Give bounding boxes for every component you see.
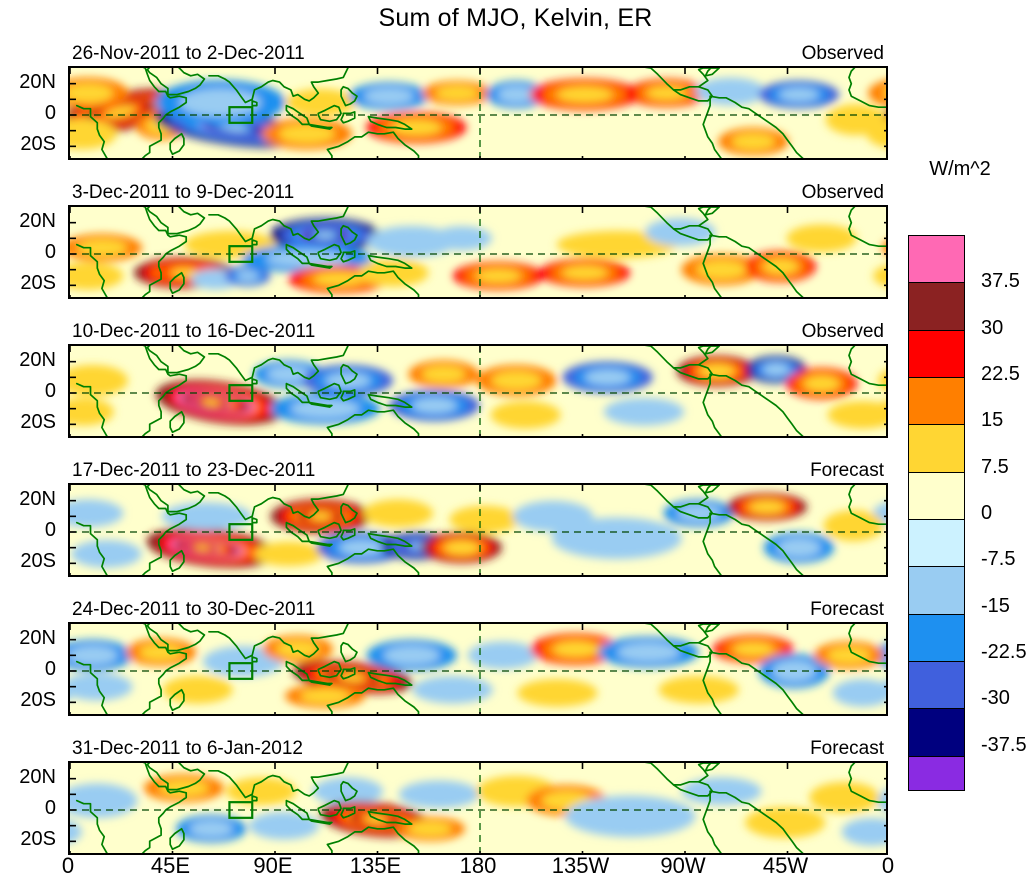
y-tick-20N-panel-3: 20N <box>0 350 56 370</box>
x-tick-90W: 90W <box>643 855 723 877</box>
map-frame-5 <box>68 622 888 716</box>
map-frame-1 <box>68 66 888 160</box>
colorbar-tick--22-5: -22.5 <box>981 642 1027 662</box>
x-tick-180: 180 <box>438 855 518 877</box>
x-tick-0: 0 <box>28 855 108 877</box>
colorbar-band-0 <box>909 236 964 282</box>
colorbar-band-4 <box>909 424 964 471</box>
colorbar-band-2 <box>909 330 964 377</box>
colorbar-tick-22-5: 22.5 <box>981 364 1020 384</box>
y-tick-20S-panel-1: 20S <box>0 134 56 154</box>
figure-root: Sum of MJO, Kelvin, ER 045E90E135E180135… <box>0 0 1031 889</box>
map-panel-5 <box>68 622 888 716</box>
x-tick-135W: 135W <box>541 855 621 877</box>
y-tick-20N-panel-1: 20N <box>0 72 56 92</box>
panel-status-6: Forecast <box>784 739 884 758</box>
y-tick-20N-panel-5: 20N <box>0 628 56 648</box>
colorbar-band-7 <box>909 566 964 613</box>
colorbar-tick-0: 0 <box>981 503 992 523</box>
y-tick-20S-panel-3: 20S <box>0 412 56 432</box>
y-tick-20N-panel-4: 20N <box>0 489 56 509</box>
x-tick-90E: 90E <box>233 855 313 877</box>
map-panel-4 <box>68 483 888 577</box>
page-title: Sum of MJO, Kelvin, ER <box>0 4 1031 33</box>
colorbar-tick--30: -30 <box>981 688 1010 708</box>
x-tick-0: 0 <box>848 855 928 877</box>
colorbar-tick--15: -15 <box>981 596 1010 616</box>
panel-date-range-6: 31-Dec-2011 to 6-Jan-2012 <box>72 739 303 758</box>
colorbar-tick--7-5: -7.5 <box>981 549 1015 569</box>
y-tick-0-panel-5: 0 <box>0 659 56 679</box>
colorbar-band-3 <box>909 377 964 424</box>
panel-date-range-2: 3-Dec-2011 to 9-Dec-2011 <box>72 183 294 202</box>
map-panel-2 <box>68 205 888 299</box>
colorbar-tick-37-5: 37.5 <box>981 271 1020 291</box>
colorbar-band-10 <box>909 708 964 755</box>
y-tick-0-panel-4: 0 <box>0 520 56 540</box>
colorbar-band-9 <box>909 661 964 708</box>
colorbar-band-1 <box>909 282 964 329</box>
y-tick-20S-panel-5: 20S <box>0 690 56 710</box>
colorbar <box>908 235 965 791</box>
y-tick-0-panel-2: 0 <box>0 242 56 262</box>
y-tick-0-panel-1: 0 <box>0 103 56 123</box>
x-tick-45E: 45E <box>131 855 211 877</box>
map-panel-3 <box>68 344 888 438</box>
panel-status-1: Observed <box>784 44 884 63</box>
panel-status-3: Observed <box>784 322 884 341</box>
y-tick-0-panel-6: 0 <box>0 798 56 818</box>
colorbar-band-8 <box>909 614 964 661</box>
colorbar-unit-label: W/m^2 <box>905 158 1015 181</box>
colorbar-band-11 <box>909 756 964 791</box>
y-tick-20N-panel-2: 20N <box>0 211 56 231</box>
panel-status-4: Forecast <box>784 461 884 480</box>
x-tick-45W: 45W <box>746 855 826 877</box>
map-frame-2 <box>68 205 888 299</box>
map-frame-4 <box>68 483 888 577</box>
panel-status-2: Observed <box>784 183 884 202</box>
y-tick-20S-panel-4: 20S <box>0 551 56 571</box>
y-tick-20N-panel-6: 20N <box>0 767 56 787</box>
panel-status-5: Forecast <box>784 600 884 619</box>
map-panel-1 <box>68 66 888 160</box>
panel-date-range-1: 26-Nov-2011 to 2-Dec-2011 <box>72 44 305 63</box>
panel-date-range-4: 17-Dec-2011 to 23-Dec-2011 <box>72 461 315 480</box>
map-panel-6 <box>68 761 888 855</box>
y-tick-20S-panel-2: 20S <box>0 273 56 293</box>
colorbar-tick-15: 15 <box>981 410 1003 430</box>
x-tick-135E: 135E <box>336 855 416 877</box>
colorbar-tick--37-5: -37.5 <box>981 735 1027 755</box>
panel-date-range-3: 10-Dec-2011 to 16-Dec-2011 <box>72 322 315 341</box>
colorbar-band-6 <box>909 519 964 566</box>
map-frame-3 <box>68 344 888 438</box>
y-tick-20S-panel-6: 20S <box>0 829 56 849</box>
colorbar-band-5 <box>909 472 964 519</box>
colorbar-tick-7-5: 7.5 <box>981 457 1009 477</box>
panel-date-range-5: 24-Dec-2011 to 30-Dec-2011 <box>72 600 315 619</box>
map-frame-6 <box>68 761 888 855</box>
y-tick-0-panel-3: 0 <box>0 381 56 401</box>
colorbar-tick-30: 30 <box>981 318 1003 338</box>
